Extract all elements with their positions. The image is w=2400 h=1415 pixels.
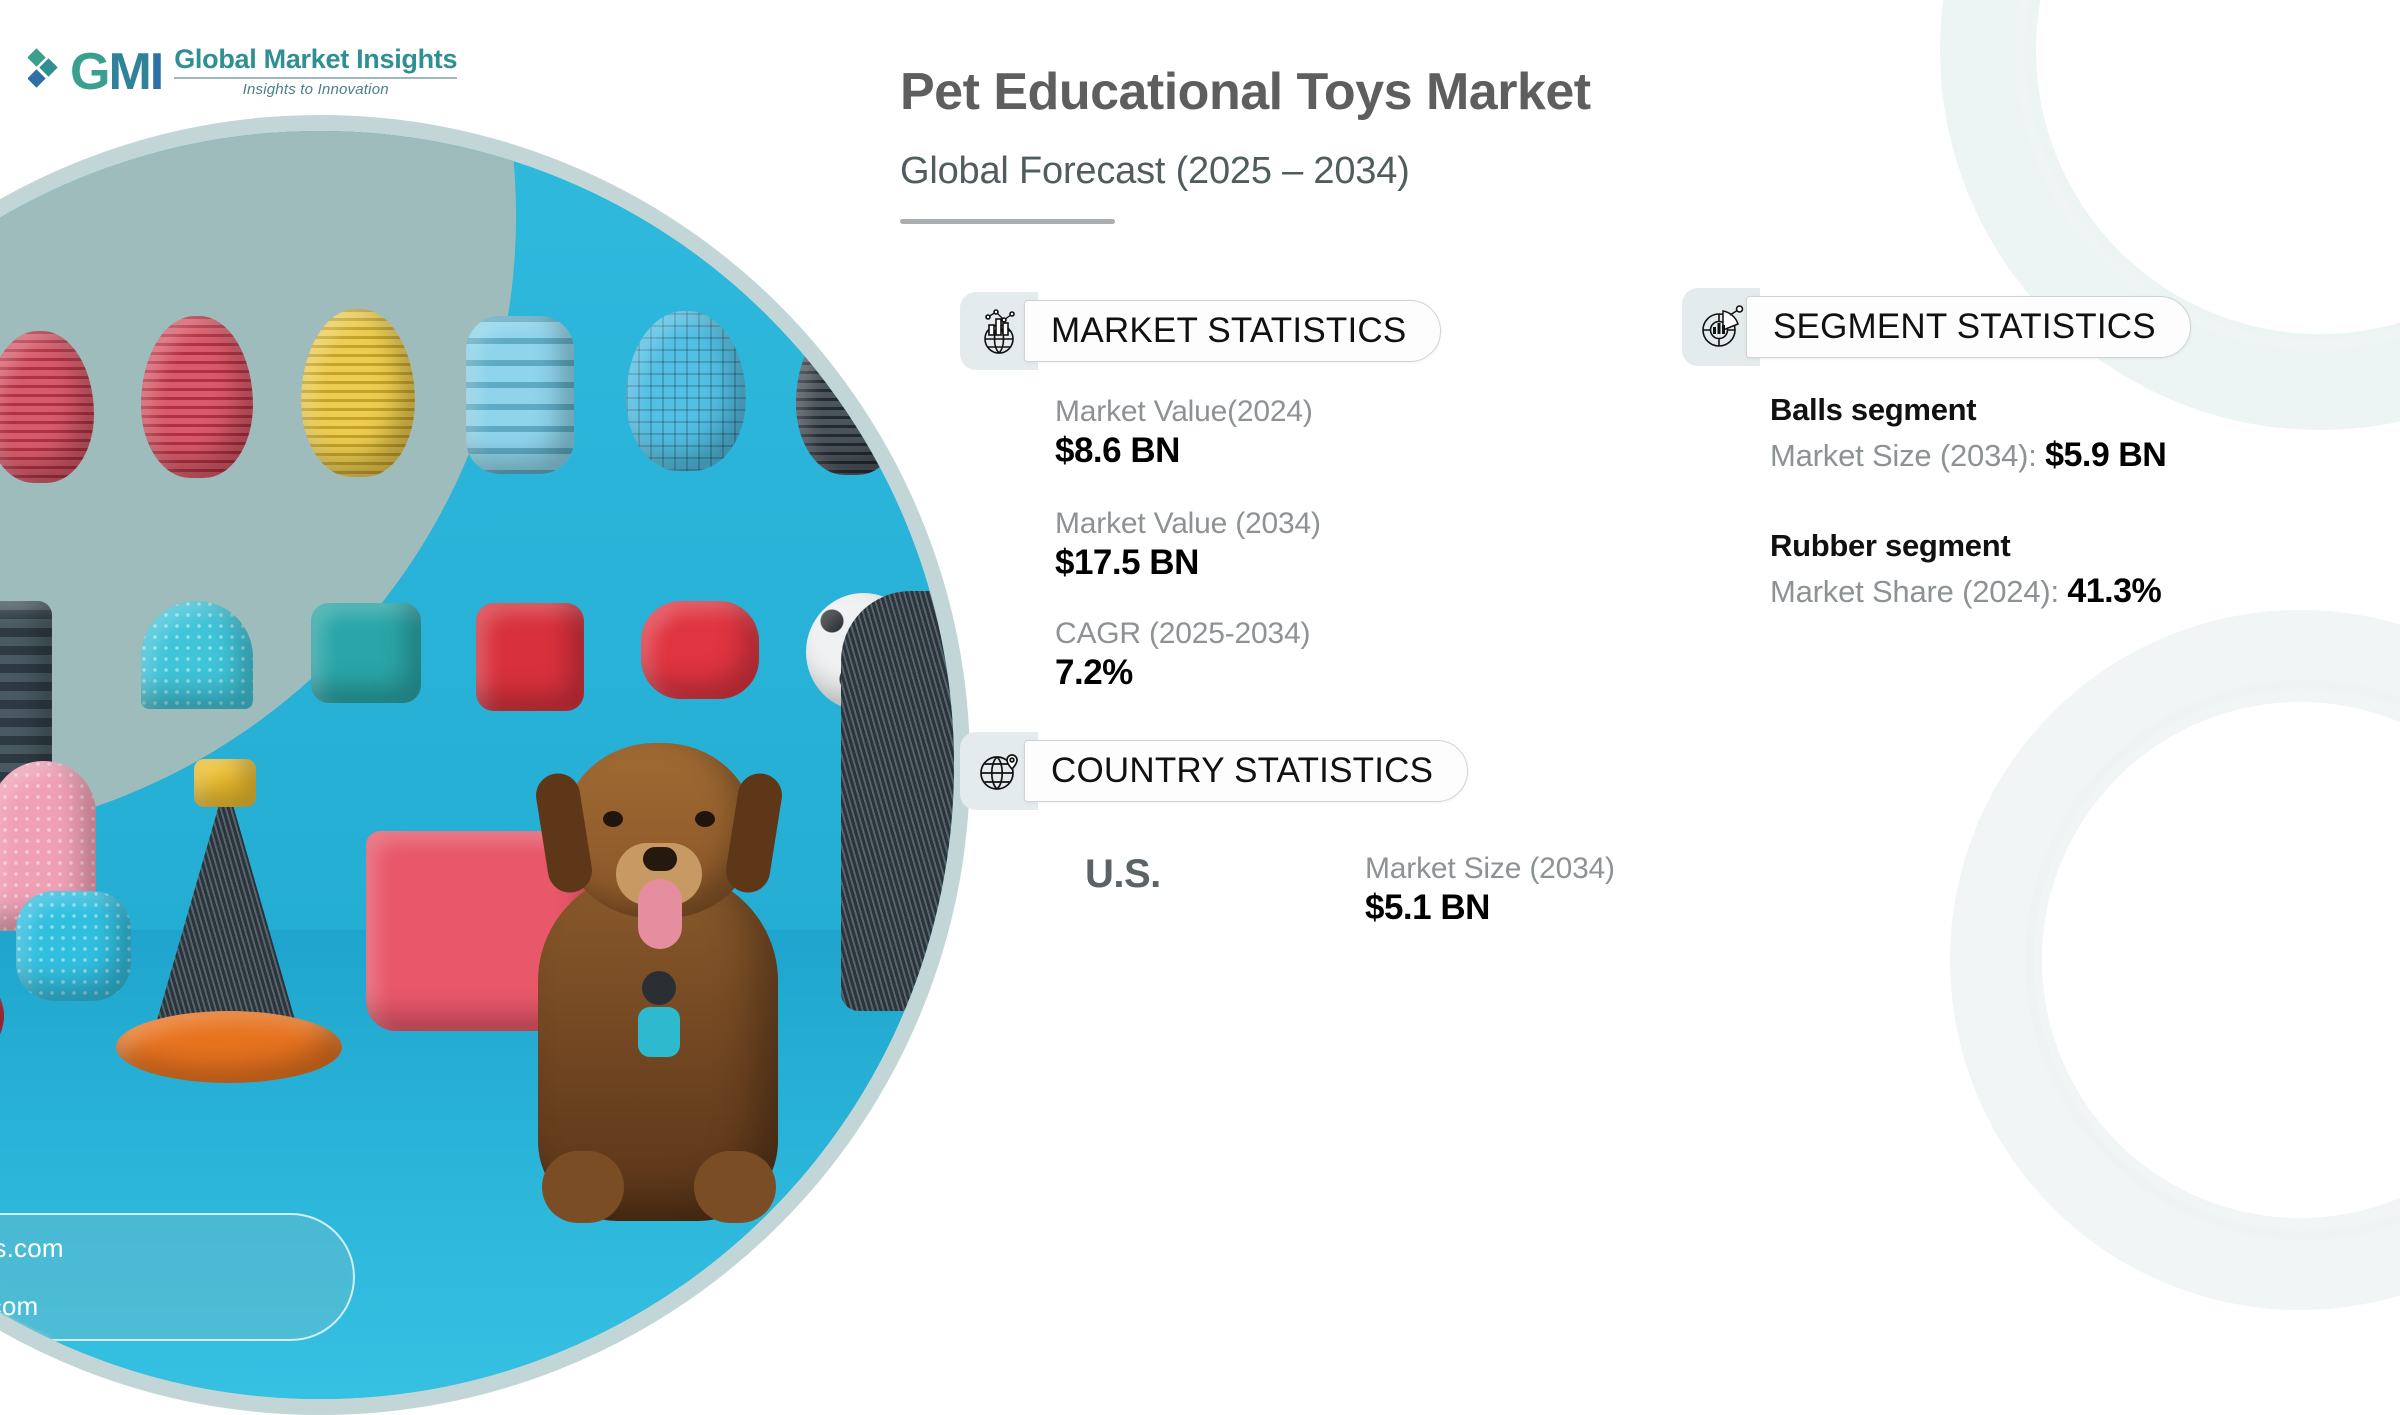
toy-blue-ribbed-cylinder	[466, 316, 574, 474]
toy-red-egg-2	[141, 316, 253, 478]
contact-card: sales@gminsights.com www www.gminsights.…	[0, 1213, 355, 1341]
toy-blue-waffle-egg	[626, 311, 746, 471]
market-stat-1-value: $17.5 BN	[1055, 543, 1321, 583]
toy-yellow-egg	[301, 309, 415, 477]
toy-dark-egg	[796, 317, 906, 475]
toy-teal-cup	[311, 603, 421, 703]
contact-website: www.gminsights.com	[0, 1291, 38, 1322]
toy-teal-arch	[141, 601, 253, 709]
market-statistics-label: MARKET STATISTICS	[1051, 311, 1406, 351]
logo-divider	[174, 77, 457, 79]
country-statistics-header[interactable]: COUNTRY STATISTICS	[960, 732, 1468, 810]
segment-1: Rubber segment Market Share (2024): 41.3…	[1770, 528, 2161, 611]
contact-email-row[interactable]: sales@gminsights.com	[0, 1225, 353, 1271]
country-statistics-label: COUNTRY STATISTICS	[1051, 751, 1433, 791]
logo-company-name: Global Market Insights	[174, 45, 457, 73]
country-statistics-pill[interactable]: COUNTRY STATISTICS	[1024, 740, 1468, 802]
segment-0-metric-value: $5.9 BN	[2045, 436, 2166, 474]
pet-toys-scene	[0, 131, 954, 1399]
country-metric-label: Market Size (2034)	[1365, 852, 1615, 886]
segment-1-metric-value: 41.3%	[2067, 572, 2161, 610]
hero-image: sales@gminsights.com www www.gminsights.…	[0, 115, 970, 1415]
segment-1-name: Rubber segment	[1770, 528, 2161, 564]
toy-yellow-cap	[194, 759, 256, 807]
segment-1-metric: Market Share (2024): 41.3%	[1770, 572, 2161, 611]
market-statistics-header[interactable]: MARKET STATISTICS	[960, 292, 1441, 370]
brand-logo[interactable]: GMI Global Market Insights Insights to I…	[28, 42, 457, 101]
market-stat-2-value: 7.2%	[1055, 653, 1310, 693]
logo-gmi-mark: GMI	[70, 46, 162, 98]
toy-red-disc	[641, 601, 759, 699]
market-statistics-pill[interactable]: MARKET STATISTICS	[1024, 300, 1441, 362]
page-title: Pet Educational Toys Market	[900, 62, 2400, 122]
market-stat-0: Market Value(2024) $8.6 BN	[1055, 395, 1313, 471]
dog-photo	[446, 721, 866, 1241]
market-stat-2-label: CAGR (2025-2034)	[1055, 617, 1310, 651]
country-metric-value: $5.1 BN	[1365, 888, 1615, 928]
main-content: Pet Educational Toys Market Global Forec…	[900, 0, 2400, 1000]
market-stat-0-value: $8.6 BN	[1055, 431, 1313, 471]
country-name-block: U.S.	[1085, 852, 1161, 897]
page-subtitle: Global Forecast (2025 – 2034)	[900, 150, 2400, 193]
logo-tagline: Insights to Innovation	[174, 81, 457, 98]
contact-website-row[interactable]: www www.gminsights.com	[0, 1283, 353, 1329]
country-name: U.S.	[1085, 852, 1161, 897]
market-stat-2: CAGR (2025-2034) 7.2%	[1055, 617, 1310, 693]
country-metric-block: Market Size (2034) $5.1 BN	[1365, 852, 1615, 928]
title-divider	[900, 219, 1115, 224]
market-stat-0-label: Market Value(2024)	[1055, 395, 1313, 429]
toy-orange-base	[116, 1011, 342, 1083]
market-stat-1-label: Market Value (2034)	[1055, 507, 1321, 541]
toy-red-cup	[476, 603, 584, 711]
toy-cyan-blob	[16, 891, 131, 1001]
segment-0-metric: Market Size (2034): $5.9 BN	[1770, 436, 2166, 475]
market-stat-1: Market Value (2034) $17.5 BN	[1055, 507, 1321, 583]
logo-wordmark: Global Market Insights Insights to Innov…	[174, 45, 457, 97]
segment-statistics-label: SEGMENT STATISTICS	[1773, 307, 2156, 347]
contact-email: sales@gminsights.com	[0, 1233, 64, 1264]
segment-statistics-header[interactable]: SEGMENT STATISTICS	[1682, 288, 2191, 366]
segment-statistics-pill[interactable]: SEGMENT STATISTICS	[1746, 296, 2191, 358]
segment-0-name: Balls segment	[1770, 392, 2166, 428]
logo-diamonds-icon	[28, 42, 58, 101]
segment-0-metric-label: Market Size (2034):	[1770, 438, 2045, 473]
segment-1-metric-label: Market Share (2024):	[1770, 574, 2067, 609]
segment-0: Balls segment Market Size (2034): $5.9 B…	[1770, 392, 2166, 475]
